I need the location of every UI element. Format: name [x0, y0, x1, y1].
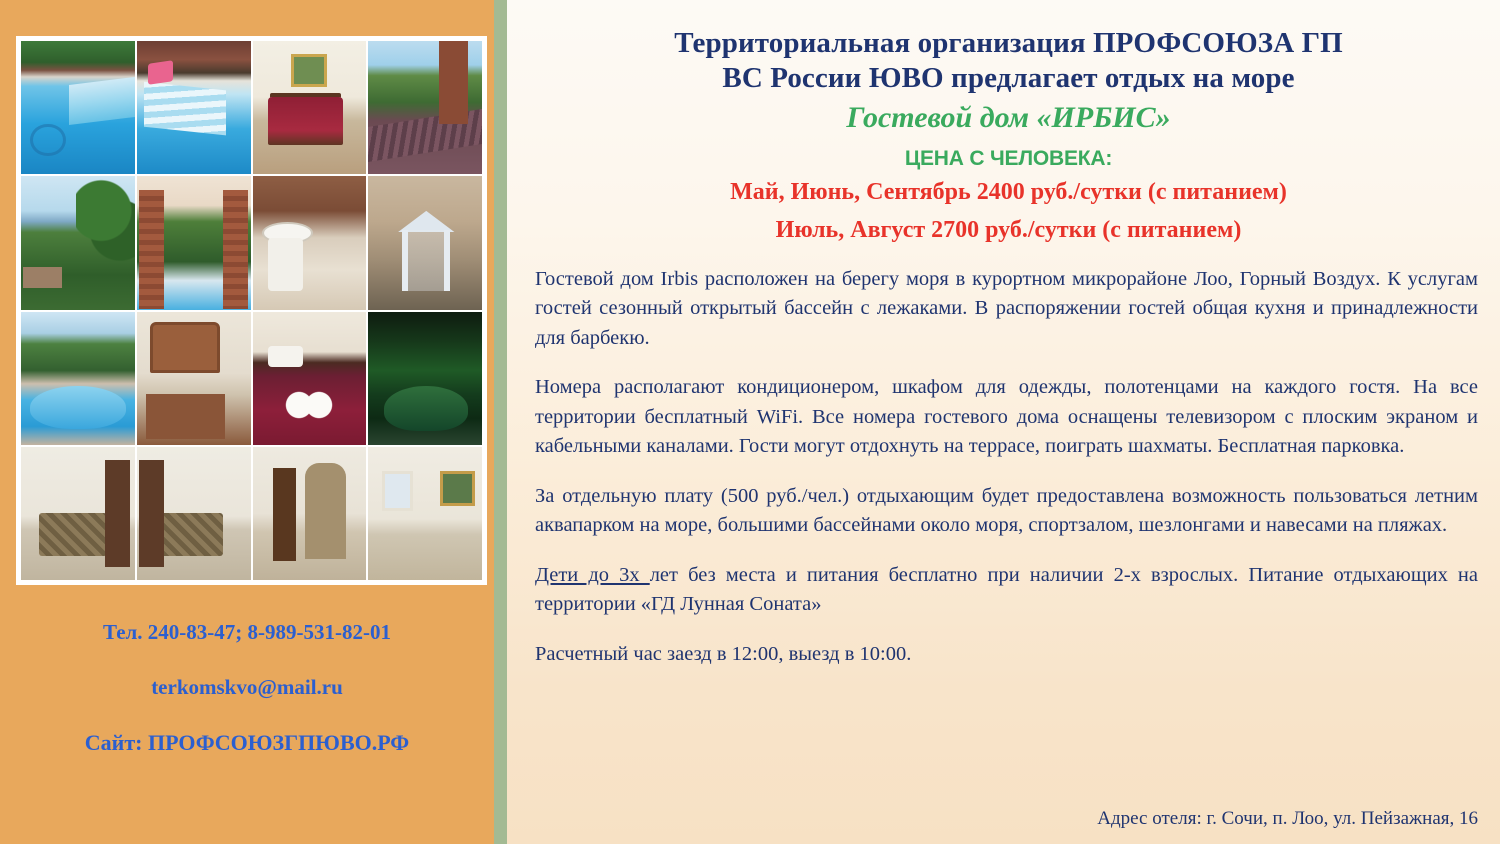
photo-sea-trees [21, 176, 135, 309]
contact-email[interactable]: terkomskvo@mail.ru [0, 675, 494, 700]
price-line-high-season: Июль, Август 2700 руб./сутки (с питанием… [535, 213, 1482, 247]
panel-divider [494, 0, 507, 844]
children-policy-underlined: Дети до 3х [535, 564, 650, 586]
photo-collage-grid [21, 41, 482, 580]
photo-arch-pool [137, 176, 251, 309]
photo-swan-towels [253, 312, 367, 445]
price-header: ЦЕНА С ЧЕЛОВЕКА: [535, 147, 1482, 171]
photo-twin-room-1 [21, 447, 135, 580]
photo-roof-sea-view [368, 41, 482, 174]
photo-pool-steps [21, 41, 135, 174]
photo-gazebo [368, 176, 482, 309]
title-block: Территориальная организация ПРОФСОЮЗА ГП… [535, 26, 1482, 247]
photo-room-window [368, 447, 482, 580]
photo-room-red-bed [253, 41, 367, 174]
children-policy-rest: лет без места и питания бесплатно при на… [535, 564, 1478, 616]
photo-collage [16, 36, 487, 585]
page-title: Территориальная организация ПРОФСОЮЗА ГП… [535, 26, 1482, 97]
contact-phone[interactable]: Тел. 240-83-47; 8-989-531-82-01 [0, 620, 494, 645]
photo-pool-loungers [137, 41, 251, 174]
price-line-low-season: Май, Июнь, Сентябрь 2400 руб./сутки (с п… [535, 175, 1482, 209]
body-copy: Гостевой дом Irbis расположен на берегу … [535, 265, 1482, 670]
paragraph-children: Дети до 3х лет без места и питания беспл… [535, 561, 1482, 620]
contact-website[interactable]: Сайт: ПРОФСОЮЗГПЮВО.РФ [0, 730, 494, 756]
photo-night-pool [368, 312, 482, 445]
photo-twin-room-2 [137, 447, 251, 580]
left-orange-panel: Тел. 240-83-47; 8-989-531-82-01 terkomsk… [0, 0, 494, 844]
contact-block: Тел. 240-83-47; 8-989-531-82-01 terkomsk… [0, 620, 494, 757]
right-content-panel: Территориальная организация ПРОФСОЮЗА ГП… [507, 0, 1500, 844]
paragraph-extra-services: За отдельную плату (500 руб./чел.) отдых… [535, 482, 1482, 541]
guest-house-name: Гостевой дом «ИРБИС» [535, 99, 1482, 137]
hotel-address: Адрес отеля: г. Сочи, п. Лоо, ул. Пейзаж… [1097, 808, 1478, 830]
paragraph-checkin-times: Расчетный час заезд в 12:00, выезд в 10:… [535, 640, 1482, 670]
photo-pool-panorama [21, 312, 135, 445]
photo-terrace-table [253, 176, 367, 309]
promo-slide: Тел. 240-83-47; 8-989-531-82-01 terkomsk… [0, 0, 1500, 844]
paragraph-amenities: Номера располагают кондиционером, шкафом… [535, 373, 1482, 462]
photo-hallway [253, 447, 367, 580]
paragraph-location: Гостевой дом Irbis расположен на берегу … [535, 265, 1482, 354]
photo-shared-kitchen [137, 312, 251, 445]
